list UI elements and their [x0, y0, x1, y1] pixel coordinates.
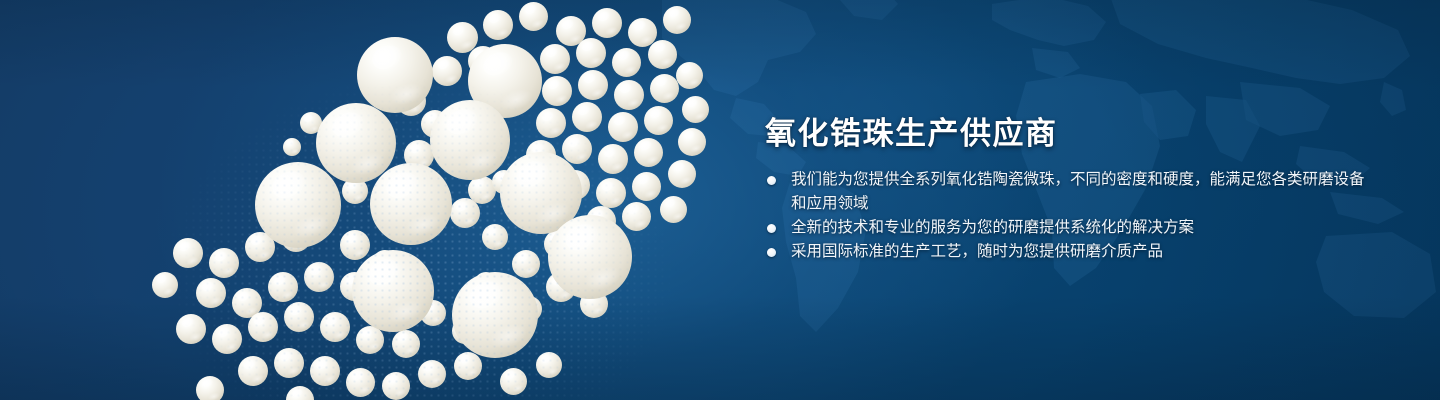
list-item-label: 全新的技术和专业的服务为您的研磨提供系统化的解决方案 [791, 219, 1194, 236]
list-item-label: 我们能为您提供全系列氧化锆陶瓷微珠，不同的密度和硬度，能满足您各类研磨设备和应用… [791, 171, 1365, 212]
banner-title: 氧化锆珠生产供应商 [765, 108, 1058, 153]
banner-content: 氧化锆珠生产供应商 我们能为您提供全系列氧化锆陶瓷微珠，不同的密度和硬度，能满足… [765, 0, 1385, 400]
promo-banner: 氧化锆珠生产供应商 我们能为您提供全系列氧化锆陶瓷微珠，不同的密度和硬度，能满足… [0, 0, 1440, 400]
bullet-dot-icon [767, 176, 776, 185]
bullet-dot-icon [767, 224, 776, 233]
list-item-label: 采用国际标准的生产工艺，随时为您提供研磨介质产品 [791, 243, 1163, 260]
banner-feature-list: 我们能为您提供全系列氧化锆陶瓷微珠，不同的密度和硬度，能满足您各类研磨设备和应用… [765, 168, 1365, 264]
list-item: 我们能为您提供全系列氧化锆陶瓷微珠，不同的密度和硬度，能满足您各类研磨设备和应用… [765, 168, 1365, 216]
list-item: 采用国际标准的生产工艺，随时为您提供研磨介质产品 [765, 240, 1365, 264]
list-item: 全新的技术和专业的服务为您的研磨提供系统化的解决方案 [765, 216, 1365, 240]
bullet-dot-icon [767, 248, 776, 257]
